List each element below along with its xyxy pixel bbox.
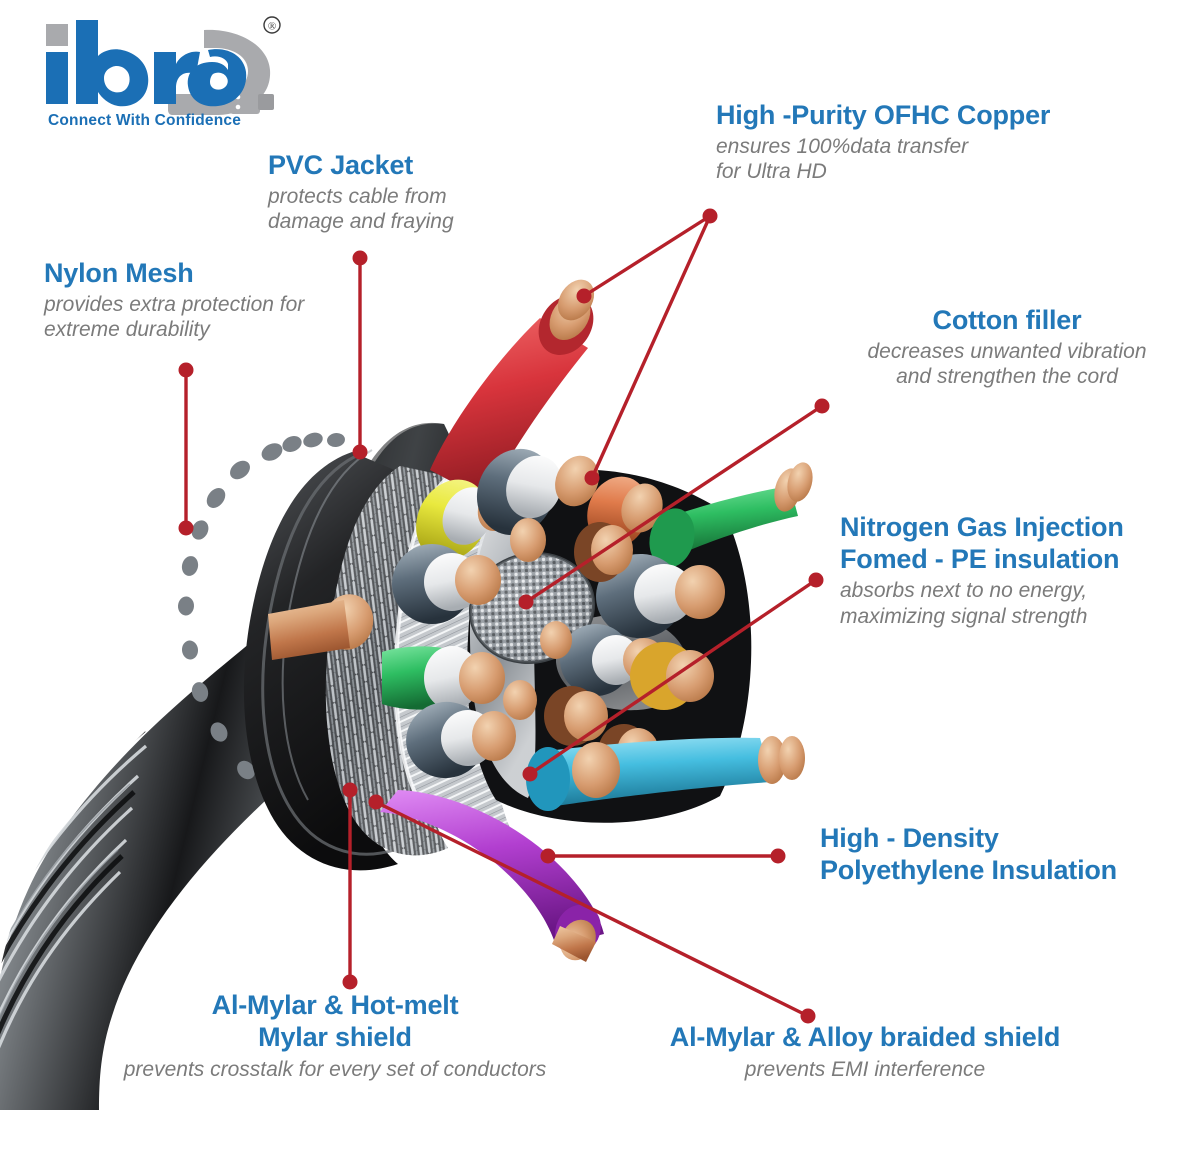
conductor-cyan-copper-tip — [779, 736, 805, 780]
callout-cotton-filler-subtitle: decreases unwanted vibration and strengt… — [842, 339, 1172, 390]
dot-nitrogen-pe-label — [809, 573, 824, 588]
dot-hd-polyethylene-target — [541, 849, 556, 864]
copper-stub-b — [540, 621, 572, 659]
callout-braided-shield-subtitle: prevents EMI interference — [640, 1057, 1090, 1083]
dot-mylar-shield-target — [343, 783, 358, 798]
callout-ofhc-copper: High -Purity OFHC Copper ensures 100%dat… — [716, 100, 1116, 185]
callout-braided-shield-heading: Al-Mylar & Alloy braided shield — [640, 1022, 1090, 1054]
callout-cotton-filler-heading: Cotton filler — [842, 305, 1172, 337]
dot-cotton-filler-target — [519, 595, 534, 610]
copper-centre-face-c — [591, 525, 633, 575]
dot-ofhc-copper-target-a — [577, 289, 592, 304]
conductor-slate-mid-a-copper — [675, 565, 725, 619]
dot-hd-polyethylene-label — [771, 849, 786, 864]
callout-mylar-shield: Al-Mylar & Hot-melt Mylar shield prevent… — [90, 990, 580, 1083]
callout-nylon-mesh-subtitle: provides extra protection for extreme du… — [44, 292, 374, 343]
callout-nitrogen-pe-subtitle: absorbs next to no energy, maximizing si… — [840, 578, 1170, 629]
callout-ofhc-copper-subtitle: ensures 100%data transfer for Ultra HD — [716, 134, 1116, 185]
callout-cotton-filler: Cotton filler decreases unwanted vibrati… — [842, 305, 1172, 390]
dot-pvc-jacket-target — [353, 445, 368, 460]
callout-nylon-mesh-heading: Nylon Mesh — [44, 258, 374, 290]
leader-braided-shield — [376, 802, 808, 1016]
infographic-canvas: ® Connect With Confidence — [0, 0, 1200, 1157]
callout-pvc-jacket-subtitle: protects cable from damage and fraying — [268, 184, 528, 235]
cluster-lu-copper — [455, 555, 501, 605]
copper-centre-face — [564, 691, 608, 741]
callout-pvc-jacket-heading: PVC Jacket — [268, 150, 528, 182]
dot-braided-shield-target — [369, 795, 384, 810]
callout-ofhc-copper-heading: High -Purity OFHC Copper — [716, 100, 1116, 132]
dot-nylon-mesh-label — [179, 363, 194, 378]
dot-mylar-shield-label — [343, 975, 358, 990]
dot-cotton-filler-label — [815, 399, 830, 414]
dot-ofhc-copper-vertex — [703, 209, 718, 224]
callout-mylar-shield-subtitle: prevents crosstalk for every set of cond… — [90, 1057, 580, 1083]
callout-nylon-mesh: Nylon Mesh provides extra protection for… — [44, 258, 374, 343]
conductor-green-lower-copper — [459, 652, 505, 704]
callout-mylar-shield-heading: Al-Mylar & Hot-melt Mylar shield — [90, 990, 580, 1053]
conductor-green-lower — [382, 646, 505, 710]
copper-stub-a — [510, 518, 546, 562]
callout-pvc-jacket: PVC Jacket protects cable from damage an… — [268, 150, 528, 235]
dot-nylon-mesh-target — [179, 521, 194, 536]
conductor-cyan-copper-inner — [572, 742, 620, 798]
callout-hd-polyethylene: High - Density Polyethylene Insulation — [820, 823, 1160, 886]
copper-stub-c — [503, 680, 537, 720]
conductor-slate-lower-copper — [472, 711, 516, 761]
callout-nitrogen-pe: Nitrogen Gas Injection Fomed - PE insula… — [840, 512, 1170, 629]
callout-braided-shield: Al-Mylar & Alloy braided shield prevents… — [640, 1022, 1090, 1082]
callout-hd-polyethylene-heading: High - Density Polyethylene Insulation — [820, 823, 1160, 886]
callout-nitrogen-pe-heading: Nitrogen Gas Injection Fomed - PE insula… — [840, 512, 1170, 575]
dot-ofhc-copper-target-b — [585, 471, 600, 486]
dot-nitrogen-pe-target — [523, 767, 538, 782]
